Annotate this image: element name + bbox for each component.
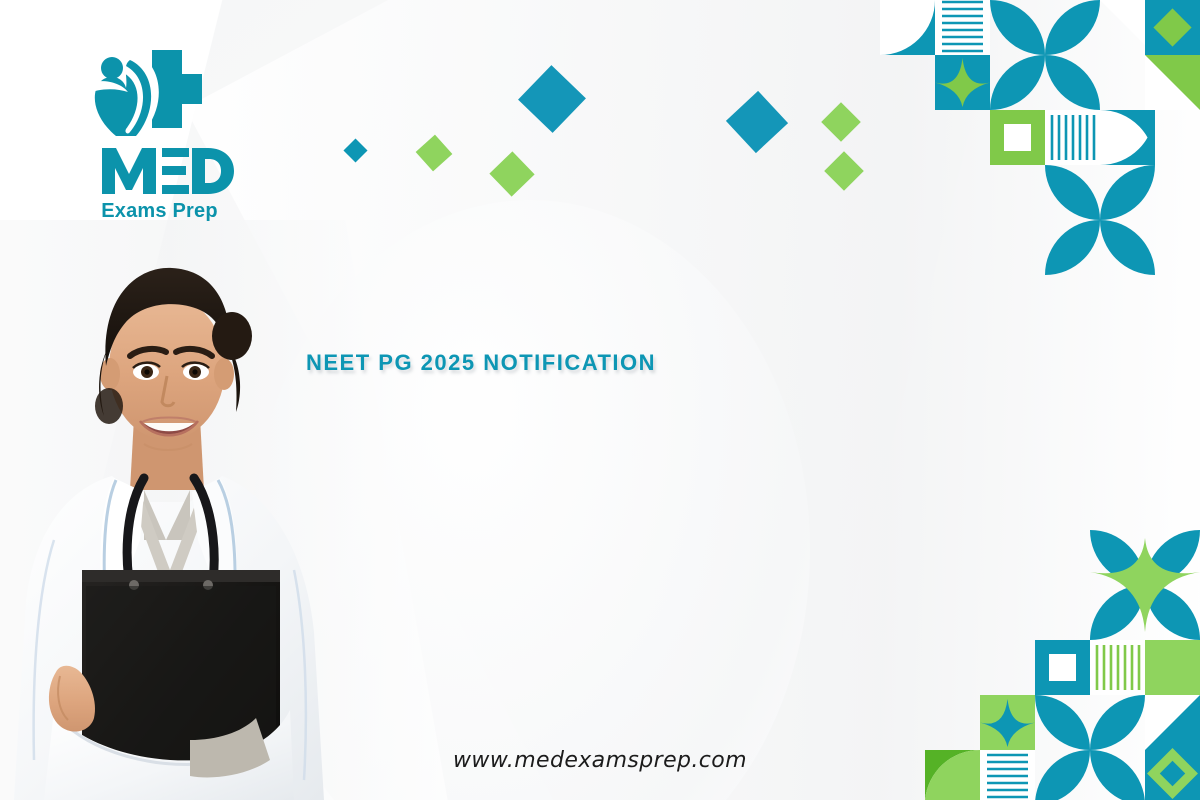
headline-block: NEET PG 2025 NOTIFICATION EXAM DATE, ELI… [306, 352, 1166, 383]
motif-barcode-stripes [1045, 110, 1100, 165]
diamond-small-green [416, 135, 453, 172]
diamond-small-green-4 [824, 151, 864, 191]
motif-petal-flower-mid [990, 55, 1100, 110]
brand-logo[interactable]: Exams Prep [72, 48, 247, 223]
diamond-small-green-3 [821, 102, 861, 142]
motif-half-circle-teal [1100, 110, 1155, 165]
motif-quarter-circle [880, 0, 935, 55]
motif-four-point-star-br [980, 695, 1035, 750]
motif-petal-flower-top [990, 0, 1100, 55]
motif-petal-flower-br-top [1090, 530, 1200, 640]
doctor-photo [0, 240, 354, 800]
diamond-small-teal [343, 138, 367, 162]
motif-quarter-circle-green-br [1145, 640, 1200, 695]
website-url[interactable]: www.medexamsprep.com [0, 748, 1200, 773]
motif-diagonal-teal-br [1145, 695, 1200, 750]
page-title: NEET PG 2025 NOTIFICATION [306, 352, 1166, 373]
diamond-medium-teal [518, 65, 586, 133]
motif-outlined-square-br [1035, 640, 1090, 695]
diamond-medium-teal-2 [726, 91, 788, 153]
motif-four-point-star [935, 55, 990, 110]
motif-petal-flower-lower [1045, 165, 1155, 275]
medical-cross-person-icon [86, 48, 204, 140]
motif-barcode-stripes-br [1090, 640, 1145, 695]
motif-triangle-green [1145, 55, 1200, 110]
motif-outlined-square [990, 110, 1045, 165]
geometric-pattern-top-right [870, 0, 1200, 290]
diamond-small-green-2 [489, 151, 534, 196]
logo-tagline: Exams Prep [72, 200, 247, 223]
motif-striped-square [935, 0, 990, 55]
logo-wordmark-med [72, 142, 247, 198]
motif-diamond-in-square [1145, 0, 1200, 55]
promo-banner: Exams Prep [0, 0, 1200, 800]
